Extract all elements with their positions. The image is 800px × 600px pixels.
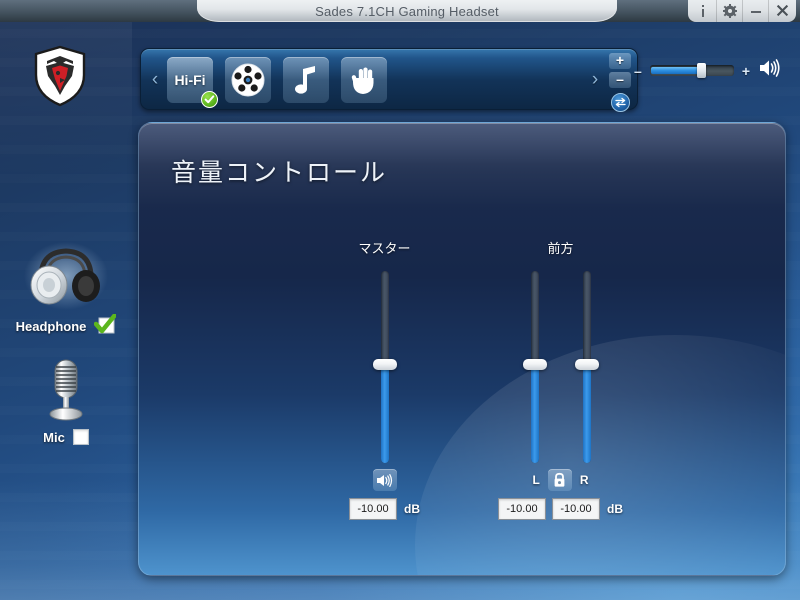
master-mute-button[interactable] [373, 469, 397, 491]
toolbar-side-controls: + – [607, 53, 633, 112]
slider-front-left[interactable] [524, 271, 546, 463]
window-controls [688, 0, 796, 22]
volume-group-front: 前方 L [498, 238, 623, 520]
front-value-row: -10.00 -10.00 dB [498, 498, 623, 520]
headphone-row: Headphone [0, 314, 132, 339]
slider-fill [583, 365, 591, 463]
toolbar-zoom-in-button[interactable]: + [609, 53, 631, 69]
slider-master[interactable] [374, 271, 396, 463]
music-note-icon [291, 64, 321, 96]
window-title-tab: Sades 7.1CH Gaming Headset [197, 0, 617, 22]
sidebar-item-mic[interactable]: Mic [0, 355, 132, 445]
check-icon [204, 94, 215, 105]
mode-button-music[interactable] [283, 57, 329, 103]
front-lock-button[interactable] [548, 469, 572, 491]
speaker-icon[interactable] [758, 58, 782, 83]
slider-front-right[interactable] [576, 271, 598, 463]
slider-thumb[interactable] [523, 359, 547, 370]
mode-toolbar: ‹ › Hi-Fi [140, 48, 638, 110]
slider-thumb[interactable] [373, 359, 397, 370]
minimize-button[interactable] [742, 0, 768, 22]
front-left-value-input[interactable]: -10.00 [498, 498, 546, 520]
volume-group-master: マスター [349, 238, 420, 520]
front-unit-label: dB [607, 502, 623, 516]
sidebar-item-headphone[interactable]: Headphone [0, 240, 132, 339]
slider-fill [381, 365, 389, 463]
master-value-input[interactable]: -10.00 [349, 498, 397, 520]
mode-buttons: Hi-Fi [167, 57, 387, 103]
settings-button[interactable] [716, 0, 742, 22]
group-sliders-master [374, 271, 396, 463]
mode-label-hifi: Hi-Fi [174, 72, 205, 88]
sidebar-item-label: Mic [43, 430, 65, 445]
title-bar: Sades 7.1CH Gaming Headset [0, 0, 800, 22]
window-title: Sades 7.1CH Gaming Headset [315, 4, 499, 19]
lock-icon [552, 472, 567, 488]
page-title: 音量コントロール [171, 153, 387, 189]
master-value-row: -10.00 dB [349, 498, 420, 520]
minimize-icon [750, 5, 762, 17]
master-volume-slider[interactable] [650, 65, 734, 76]
toolbar-zoom-out-button[interactable]: – [609, 72, 631, 88]
master-mute-row [373, 467, 397, 493]
sidebar-item-label: Headphone [16, 319, 87, 334]
mic-checkbox[interactable] [73, 429, 89, 445]
slider-fill [531, 365, 539, 463]
film-reel-icon [231, 63, 265, 97]
front-right-label: R [580, 473, 589, 487]
front-value-group: -10.00 -10.00 [498, 498, 600, 520]
close-button[interactable] [768, 0, 794, 22]
mic-row: Mic [0, 429, 132, 445]
selected-check-badge [201, 91, 218, 108]
info-button[interactable] [690, 0, 716, 22]
mode-button-hifi[interactable]: Hi-Fi [167, 57, 213, 103]
speaker-icon [376, 473, 393, 488]
sades-wolf-shield-logo [32, 45, 88, 107]
headphone-icon [0, 240, 132, 312]
mode-button-hand[interactable] [341, 57, 387, 103]
front-left-label: L [532, 473, 539, 487]
group-title-master: マスター [358, 238, 410, 257]
master-volume-control: – + [634, 58, 782, 83]
master-volume-thumb[interactable] [697, 63, 706, 78]
headphone-checkbox[interactable] [94, 314, 116, 339]
front-lr-row: L R [532, 467, 588, 493]
main-panel: 音量コントロール マスター [138, 122, 786, 576]
check-icon [94, 314, 116, 334]
volume-increase-button[interactable]: + [742, 63, 750, 79]
group-sliders-front [524, 271, 598, 463]
master-volume-fill [651, 67, 702, 74]
info-icon [701, 5, 705, 17]
volume-groups: マスター [349, 238, 623, 520]
master-unit-label: dB [404, 502, 420, 516]
hand-icon [348, 64, 380, 96]
group-title-front: 前方 [547, 238, 573, 257]
swap-arrows-icon [614, 96, 627, 109]
toolbar-swap-button[interactable] [611, 93, 630, 112]
volume-decrease-button[interactable]: – [634, 63, 642, 79]
slider-thumb[interactable] [575, 359, 599, 370]
mode-button-movie[interactable] [225, 57, 271, 103]
gear-icon [723, 4, 737, 18]
toolbar-prev-button[interactable]: ‹ [147, 69, 163, 91]
microphone-icon [0, 355, 132, 427]
close-icon [776, 5, 788, 17]
toolbar-next-button[interactable]: › [587, 69, 603, 91]
device-sidebar: Headphone [0, 240, 132, 461]
application-window: Sades 7.1CH Gaming Headset [0, 0, 800, 600]
front-right-value-input[interactable]: -10.00 [552, 498, 600, 520]
brand-logo [32, 45, 88, 107]
